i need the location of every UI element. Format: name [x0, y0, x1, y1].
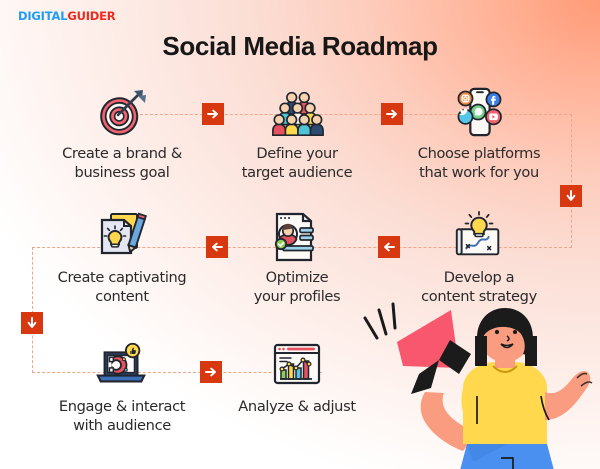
- arrow-down-step6-to-step7[interactable]: [21, 312, 43, 334]
- step-choose-platforms[interactable]: Choose platforms that work for you: [404, 84, 554, 182]
- logo-text-digital: DIGITAL: [18, 9, 67, 23]
- step-label: Create captivating content: [58, 269, 187, 306]
- step-develop-a-content-strategy[interactable]: Develop a content strategy: [404, 208, 554, 306]
- step-label: Choose platforms that work for you: [418, 145, 541, 182]
- step-engage-and-interact[interactable]: Engage & interact with audience: [47, 337, 197, 435]
- step-label: Engage & interact with audience: [59, 398, 185, 435]
- infographic-canvas: DIGITALGUIDER Social Media Roadmap: [0, 0, 600, 469]
- step-create-a-brand[interactable]: Create a brand & business goal: [47, 84, 197, 182]
- profile-card-icon: [269, 208, 325, 264]
- target-arrow-icon: [94, 84, 150, 140]
- page-title: Social Media Roadmap: [0, 31, 600, 62]
- arrow-right-step7-to-step8[interactable]: [200, 361, 222, 383]
- step-create-captivating-content[interactable]: Create captivating content: [47, 208, 197, 306]
- audience-group-icon: [269, 84, 325, 140]
- brand-logo[interactable]: DIGITALGUIDER: [18, 9, 115, 23]
- arrow-left-step4-to-step5[interactable]: [378, 236, 400, 258]
- laptop-magnet-icon: [94, 337, 150, 393]
- arrow-right-step1-to-step2[interactable]: [202, 103, 224, 125]
- arrow-down-step3-to-step4[interactable]: [560, 185, 582, 207]
- connector-right-vertical: [571, 114, 572, 248]
- arrow-left-icon: [210, 240, 224, 254]
- analytics-chart-icon: [269, 337, 325, 393]
- arrow-down-icon: [564, 189, 578, 203]
- logo-text-guider: GUIDER: [67, 9, 115, 23]
- step-label: Define your target audience: [242, 145, 353, 182]
- strategy-board-lightbulb-icon: [451, 208, 507, 264]
- step-label: Analyze & adjust: [238, 398, 355, 417]
- arrow-right-step2-to-step3[interactable]: [381, 103, 403, 125]
- step-label: Optimize your profiles: [254, 269, 341, 306]
- arrow-down-icon: [25, 316, 39, 330]
- connector-left-vertical: [32, 247, 33, 373]
- step-optimize-your-profiles[interactable]: Optimize your profiles: [222, 208, 372, 306]
- phone-social-apps-icon: [451, 84, 507, 140]
- arrow-right-icon: [204, 365, 218, 379]
- step-analyze-and-adjust[interactable]: Analyze & adjust: [222, 337, 372, 417]
- step-define-your-target-audience[interactable]: Define your target audience: [222, 84, 372, 182]
- step-label: Create a brand & business goal: [62, 145, 182, 182]
- arrow-right-icon: [206, 107, 220, 121]
- woman-with-megaphone-illustration: [355, 296, 600, 469]
- arrow-left-step5-to-step6[interactable]: [206, 236, 228, 258]
- arrow-left-icon: [382, 240, 396, 254]
- arrow-right-icon: [385, 107, 399, 121]
- document-lightbulb-pencil-icon: [94, 208, 150, 264]
